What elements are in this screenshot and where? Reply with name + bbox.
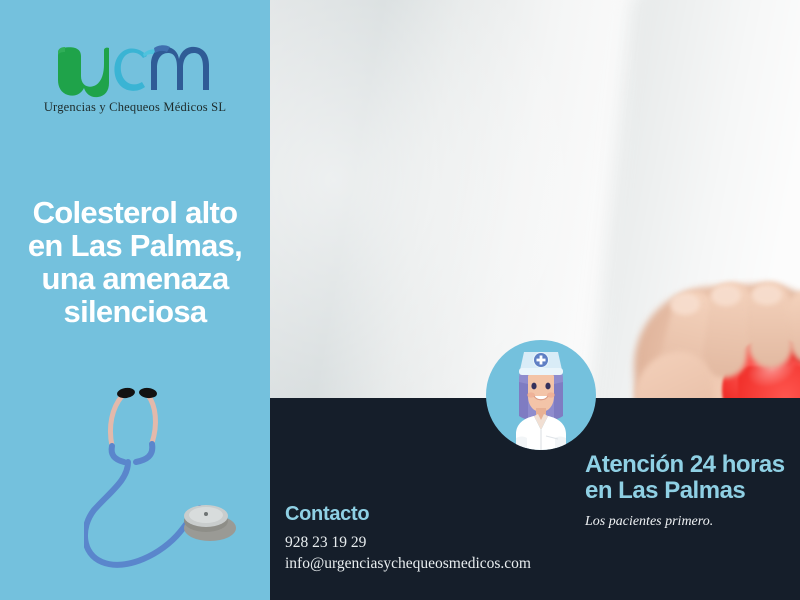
headline-line-1: Colesterol alto [33, 195, 238, 230]
left-blue-panel: Urgencias y Chequeos Médicos SL Colester… [0, 0, 270, 600]
fingernail [670, 293, 700, 315]
page-title: Colesterol alto en Las Palmas, una amena… [0, 196, 270, 329]
service-tagline: Los pacientes primero. [585, 514, 785, 530]
brand-tagline: Urgencias y Chequeos Médicos SL [0, 100, 270, 115]
headline-line-3: una amenaza [42, 261, 229, 296]
contact-phone[interactable]: 928 23 19 29 [285, 533, 575, 554]
headline-line-2: en Las Palmas, [28, 228, 242, 263]
contact-email[interactable]: info@urgenciasychequeosmedicos.com [285, 554, 575, 575]
contact-heading: Contacto [285, 503, 575, 526]
headline-line-4: silenciosa [64, 294, 207, 329]
brand-logo: Urgencias y Chequeos Médicos SL [0, 42, 270, 115]
fingernail [711, 285, 741, 306]
service-heading: Atención 24 horas en Las Palmas [585, 452, 785, 505]
stethoscope-icon [84, 368, 274, 578]
service-block: Atención 24 horas en Las Palmas Los paci… [585, 452, 785, 530]
poster: Urgencias y Chequeos Médicos SL Colester… [0, 0, 800, 600]
contact-block: Contacto 928 23 19 29 info@urgenciasyche… [285, 503, 575, 575]
ucm-monogram-icon [55, 42, 215, 98]
nurse-avatar-icon [486, 340, 596, 450]
fingernail [752, 285, 782, 305]
